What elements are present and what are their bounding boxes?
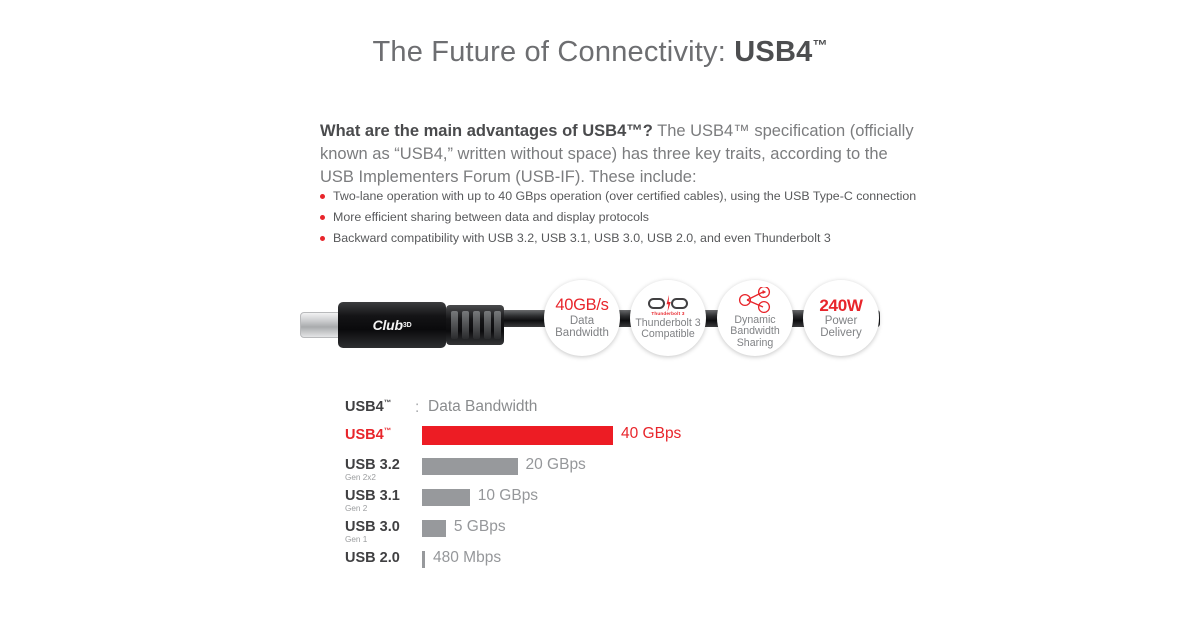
page-title: The Future of Connectivity: USB4™	[0, 36, 1200, 69]
infographic-page: The Future of Connectivity: USB4™ What a…	[0, 0, 1200, 630]
feature-headline: 240W	[819, 297, 862, 315]
bar-row-label: USB 3.0	[345, 519, 400, 535]
bar-row-label: USB 3.1	[345, 488, 400, 504]
list-item-label: Two-lane operation with up to 40 GBps op…	[333, 189, 916, 203]
bar-row-label: USB 2.0	[345, 550, 400, 566]
bar-row-label: USB 3.2	[345, 457, 400, 473]
feature-line-2: Bandwidth	[555, 327, 609, 339]
bandwidth-chart: USB4™ : Data Bandwidth USB4™ 40 GBps USB…	[320, 398, 880, 579]
page-title-brand: USB4	[734, 36, 812, 68]
bar-fill	[422, 489, 470, 506]
bar-fill	[422, 426, 613, 445]
list-item: Backward compatibility with USB 3.2, USB…	[320, 232, 940, 244]
page-title-lead: The Future of Connectivity:	[372, 36, 734, 68]
table-row: USB 3.1 Gen 2 10 GBps	[320, 486, 880, 517]
bullet-dot-icon	[320, 194, 325, 199]
list-item: Two-lane operation with up to 40 GBps op…	[320, 190, 940, 202]
cable-feature-band: Club3D 40GB/s Data Bandwidth Thunderbolt…	[0, 268, 1200, 372]
page-title-trademark: ™	[812, 37, 827, 54]
feature-line-1: Data	[570, 315, 594, 327]
usb-c-connector-tip-icon	[300, 312, 342, 338]
bullet-dot-icon	[320, 236, 325, 241]
chart-title: USB4™ : Data Bandwidth	[320, 398, 880, 424]
thunderbolt-icon-caption: Thunderbolt 3	[651, 312, 684, 317]
intro-paragraph: What are the main advantages of USB4™? T…	[320, 120, 920, 188]
bar-fill	[422, 458, 518, 475]
share-nodes-icon	[738, 287, 772, 313]
list-item: More efficient sharing between data and …	[320, 211, 940, 223]
cable-strain-relief	[446, 305, 504, 345]
feature-line-2: Delivery	[820, 327, 862, 339]
feature-line-1: Power	[825, 315, 858, 327]
bar-fill	[422, 551, 425, 568]
table-row: USB 2.0 480 Mbps	[320, 548, 880, 579]
feature-badge-power-delivery: 240W Power Delivery	[803, 280, 879, 356]
bar-value-label: 40 GBps	[621, 425, 681, 443]
chart-title-separator: :	[415, 399, 419, 417]
table-row: USB 3.0 Gen 1 5 GBps	[320, 517, 880, 548]
cable-brand-logo: Club3D	[338, 302, 446, 348]
bar-row-sublabel: Gen 2	[345, 504, 367, 513]
chart-title-label: USB4™	[345, 398, 391, 415]
bar-fill	[422, 520, 446, 537]
chart-title-text: Data Bandwidth	[428, 398, 537, 416]
feature-badge-thunderbolt: Thunderbolt 3 Thunderbolt 3 Compatible	[630, 280, 706, 356]
feature-badge-dynamic-sharing: Dynamic Bandwidth Sharing	[717, 280, 793, 356]
cable-brand-name: Club	[373, 317, 403, 333]
bar-value-label: 5 GBps	[454, 518, 506, 536]
bar-row-sublabel: Gen 1	[345, 535, 367, 544]
feature-line-2: Bandwidth	[730, 326, 779, 337]
bar-value-label: 20 GBps	[526, 456, 586, 474]
list-item-label: Backward compatibility with USB 3.2, USB…	[333, 231, 831, 245]
table-row: USB4™ 40 GBps	[320, 424, 880, 455]
bar-value-label: 10 GBps	[478, 487, 538, 505]
table-row: USB 3.2 Gen 2x2 20 GBps	[320, 455, 880, 486]
feature-line-3: Sharing	[737, 338, 774, 349]
bullet-dot-icon	[320, 215, 325, 220]
intro-question: What are the main advantages of USB4™?	[320, 122, 653, 140]
list-item-label: More efficient sharing between data and …	[333, 210, 649, 224]
bar-row-label: USB4™	[345, 426, 391, 443]
advantages-list: Two-lane operation with up to 40 GBps op…	[320, 190, 940, 253]
bar-value-label: 480 Mbps	[433, 549, 501, 567]
thunderbolt-icon	[648, 296, 688, 311]
feature-line-2: Compatible	[641, 329, 695, 340]
cable-brand-superscript: 3D	[403, 322, 412, 329]
bar-row-sublabel: Gen 2x2	[345, 473, 376, 482]
feature-headline: 40GB/s	[555, 297, 608, 314]
feature-badge-data-bandwidth: 40GB/s Data Bandwidth	[544, 280, 620, 356]
